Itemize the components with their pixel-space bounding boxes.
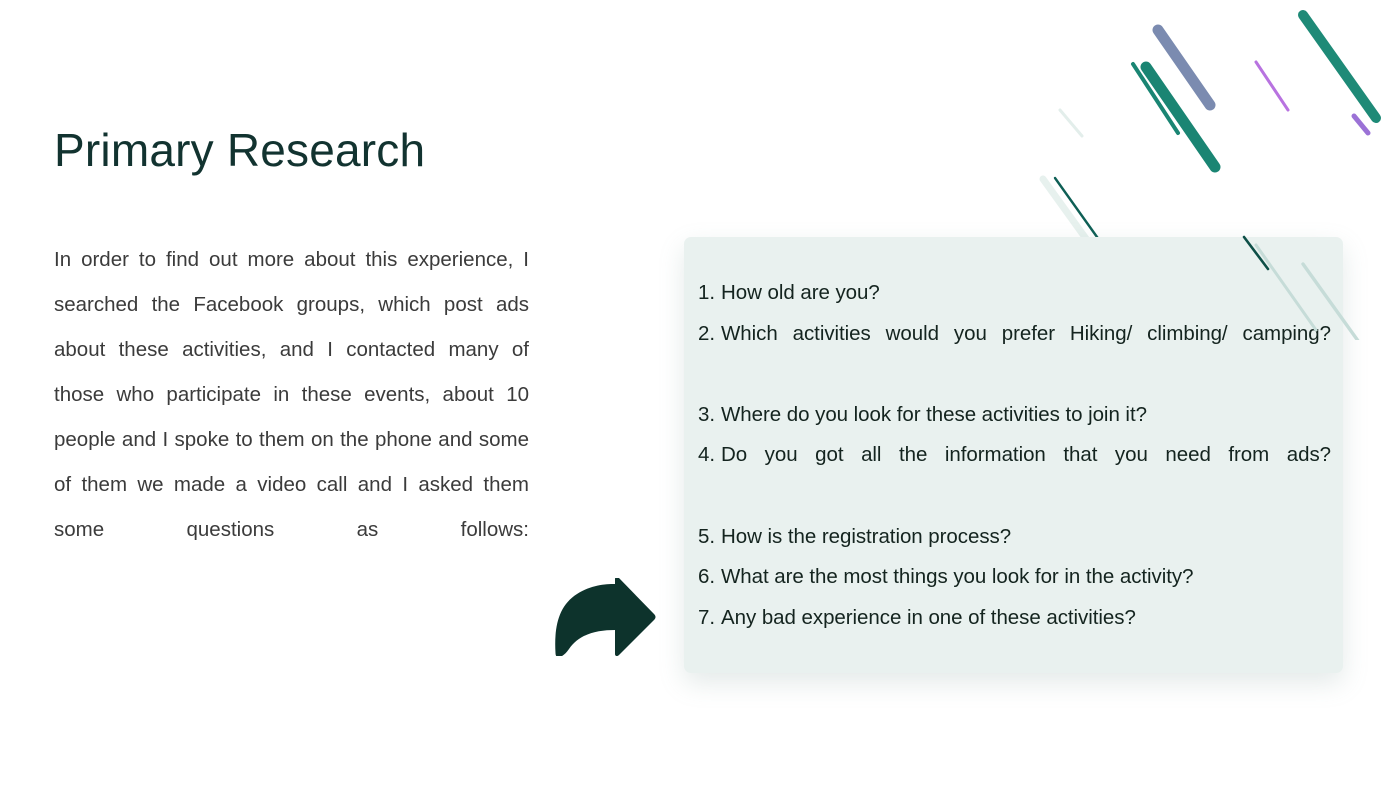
mint-pale-stroke-a-icon	[1060, 110, 1082, 136]
left-content-column: Primary Research In order to find out mo…	[54, 124, 529, 597]
teal-thick-stroke-mid-icon	[1146, 67, 1215, 167]
purple-thin-stroke-upper-icon	[1256, 62, 1288, 110]
question-number: 7.	[698, 598, 715, 639]
list-item: 2. Which activities would you prefer Hik…	[698, 314, 1331, 395]
question-number: 6.	[698, 557, 715, 598]
teal-thin-stroke-mid-icon	[1133, 64, 1178, 133]
teal-dark-thin-stroke-a-icon	[1055, 178, 1102, 244]
questions-list: 1. How old are you? 2. Which activities …	[698, 273, 1331, 638]
forward-arrow	[553, 578, 657, 653]
forward-arrow-icon	[553, 578, 657, 656]
page-title: Primary Research	[54, 124, 529, 177]
question-number: 3.	[698, 395, 715, 436]
question-text: What are the most things you look for in…	[721, 557, 1331, 598]
list-item: 1. How old are you?	[698, 273, 1331, 314]
question-number: 5.	[698, 517, 715, 558]
slate-thick-stroke-icon	[1158, 30, 1210, 105]
question-number: 4.	[698, 435, 715, 476]
list-item: 7. Any bad experience in one of these ac…	[698, 598, 1331, 639]
question-text: Which activities would you prefer Hiking…	[721, 314, 1331, 395]
list-item: 6. What are the most things you look for…	[698, 557, 1331, 598]
list-item: 3. Where do you look for these activitie…	[698, 395, 1331, 436]
questions-card: 1. How old are you? 2. Which activities …	[684, 237, 1343, 673]
question-text: Where do you look for these activities t…	[721, 395, 1331, 436]
question-text: How old are you?	[721, 273, 1331, 314]
list-item: 4. Do you got all the information that y…	[698, 435, 1331, 516]
teal-thick-stroke-right-icon	[1303, 15, 1376, 118]
question-text: Any bad experience in one of these activ…	[721, 598, 1331, 639]
question-text: How is the registration process?	[721, 517, 1331, 558]
question-number: 2.	[698, 314, 715, 355]
purple-thin-stroke-lower-icon	[1354, 116, 1368, 133]
intro-paragraph: In order to find out more about this exp…	[54, 237, 529, 597]
list-item: 5. How is the registration process?	[698, 517, 1331, 558]
question-text: Do you got all the information that you …	[721, 435, 1331, 516]
question-number: 1.	[698, 273, 715, 314]
